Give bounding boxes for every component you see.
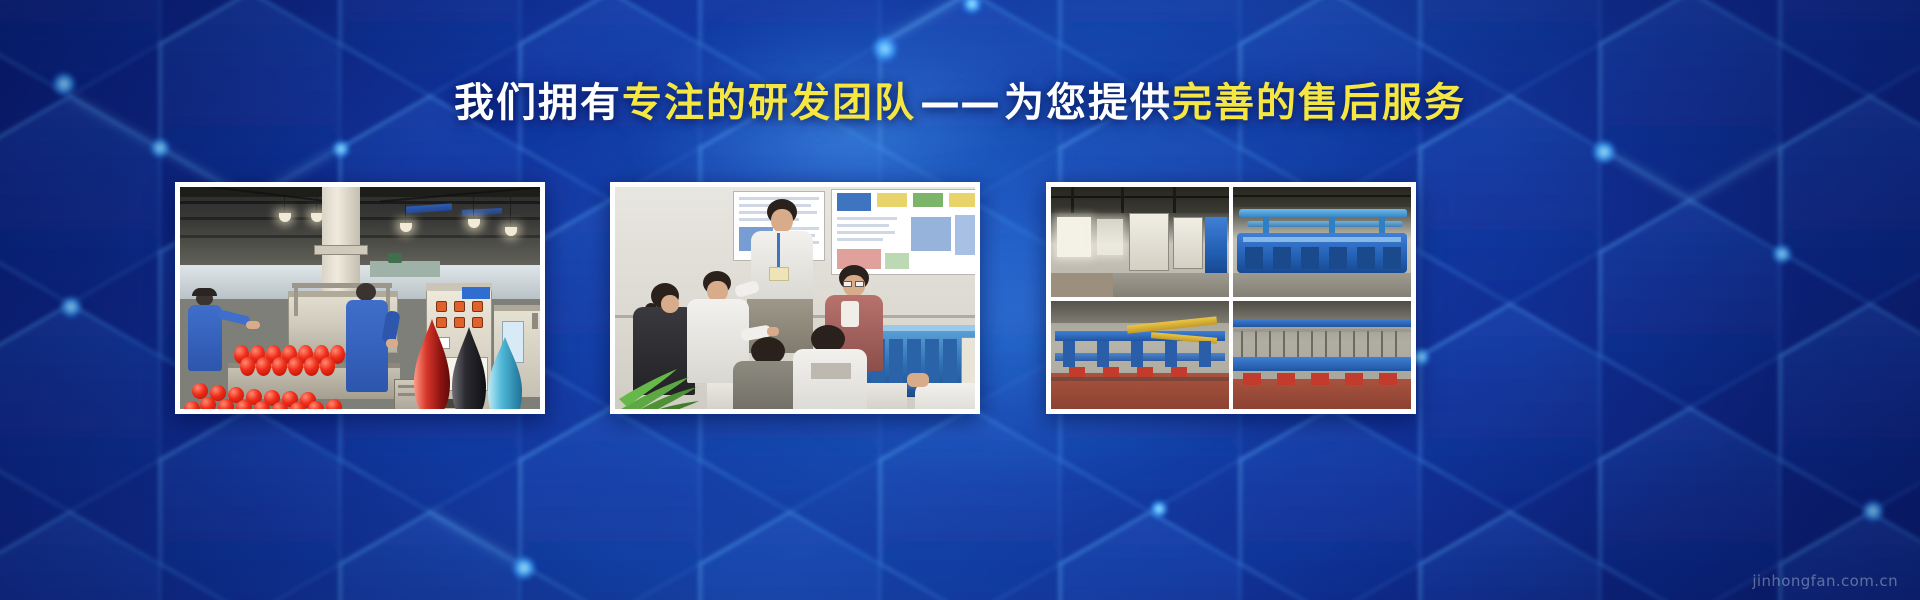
team-meeting-photo[interactable]	[610, 182, 980, 414]
headline-segment-2: 专注的研发团队	[622, 80, 916, 126]
headline-dash: ——	[916, 80, 1004, 126]
product-vase-red	[412, 319, 452, 409]
production-line-photo[interactable]	[175, 182, 545, 414]
banner-headline: 我们拥有专注的研发团队——为您提供完善的售后服务	[0, 78, 1920, 128]
product-vase-teal	[486, 337, 524, 409]
headline-segment-3: 为您提供	[1004, 80, 1172, 126]
product-vase-black	[450, 327, 488, 409]
photo-panel-group	[0, 182, 1920, 414]
promo-banner: 我们拥有专注的研发团队——为您提供完善的售后服务	[0, 0, 1920, 600]
equipment-collage-photo-image	[1051, 187, 1411, 409]
headline-segment-1: 我们拥有	[454, 80, 622, 126]
equipment-collage-photo[interactable]	[1046, 182, 1416, 414]
plant-leaves	[619, 359, 705, 409]
headline-segment-4: 完善的售后服务	[1172, 80, 1466, 126]
production-line-photo-image	[180, 187, 540, 409]
site-watermark: jinhongfan.com.cn	[1752, 572, 1898, 590]
team-meeting-photo-image	[615, 187, 975, 409]
